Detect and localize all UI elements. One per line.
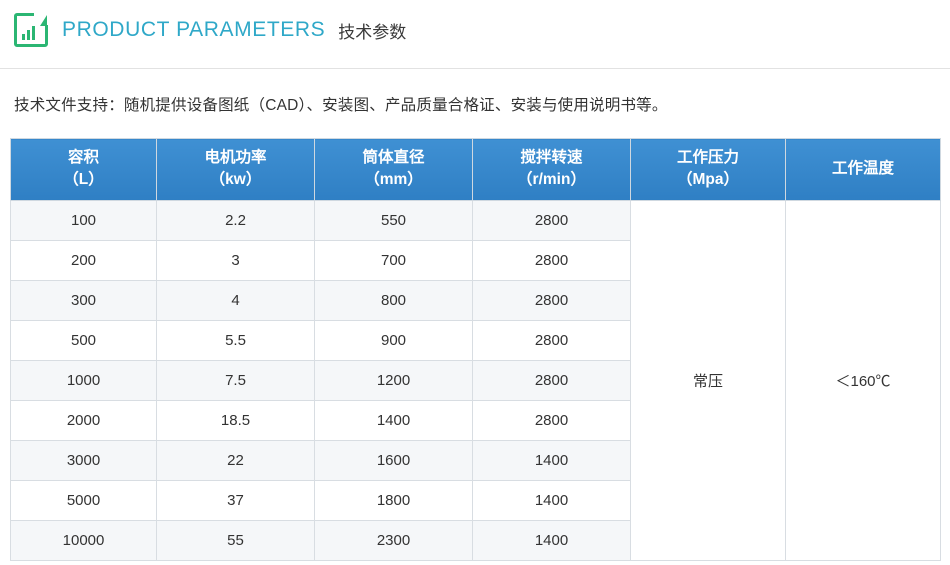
column-header-motor-power: 电机功率 （kw） bbox=[157, 139, 315, 201]
column-unit: （mm） bbox=[317, 169, 470, 191]
cell-speed: 2800 bbox=[473, 240, 631, 280]
cell-speed: 2800 bbox=[473, 280, 631, 320]
cell-power: 22 bbox=[157, 440, 315, 480]
cell-working-temperature: ＜160℃ bbox=[786, 200, 941, 560]
column-unit: （kw） bbox=[159, 169, 312, 191]
parameters-table-wrapper: 容积 （L） 电机功率 （kw） 筒体直径 （mm） 搅拌转速 （r/min） bbox=[10, 138, 940, 561]
cell-power: 7.5 bbox=[157, 360, 315, 400]
cell-power: 3 bbox=[157, 240, 315, 280]
cell-speed: 2800 bbox=[473, 400, 631, 440]
cell-power: 5.5 bbox=[157, 320, 315, 360]
column-unit: （Mpa） bbox=[633, 169, 783, 191]
column-unit: （r/min） bbox=[475, 169, 628, 191]
column-header-stirring-speed: 搅拌转速 （r/min） bbox=[473, 139, 631, 201]
cell-power: 55 bbox=[157, 520, 315, 560]
cell-volume: 100 bbox=[11, 200, 157, 240]
cell-diameter: 1600 bbox=[315, 440, 473, 480]
column-title: 工作压力 bbox=[677, 149, 739, 166]
parameters-table: 容积 （L） 电机功率 （kw） 筒体直径 （mm） 搅拌转速 （r/min） bbox=[10, 138, 941, 561]
cell-diameter: 1400 bbox=[315, 400, 473, 440]
cell-diameter: 1800 bbox=[315, 480, 473, 520]
column-header-working-temperature: 工作温度 bbox=[786, 139, 941, 201]
page-header: PRODUCT PARAMETERS 技术参数 bbox=[0, 0, 950, 46]
cell-diameter: 700 bbox=[315, 240, 473, 280]
page-title-en: PRODUCT PARAMETERS bbox=[62, 18, 325, 42]
column-header-working-pressure: 工作压力 （Mpa） bbox=[631, 139, 786, 201]
column-title: 筒体直径 bbox=[362, 149, 424, 166]
cell-diameter: 900 bbox=[315, 320, 473, 360]
cell-speed: 2800 bbox=[473, 320, 631, 360]
cell-volume: 200 bbox=[11, 240, 157, 280]
cell-volume: 3000 bbox=[11, 440, 157, 480]
cell-speed: 1400 bbox=[473, 480, 631, 520]
table-header-row: 容积 （L） 电机功率 （kw） 筒体直径 （mm） 搅拌转速 （r/min） bbox=[11, 139, 941, 201]
cell-diameter: 1200 bbox=[315, 360, 473, 400]
cell-volume: 1000 bbox=[11, 360, 157, 400]
technical-documents-note: 技术文件支持：随机提供设备图纸（CAD）、安装图、产品质量合格证、安装与使用说明… bbox=[14, 93, 668, 115]
cell-speed: 2800 bbox=[473, 200, 631, 240]
cell-volume: 10000 bbox=[11, 520, 157, 560]
product-parameters-page: PRODUCT PARAMETERS 技术参数 技术文件支持：随机提供设备图纸（… bbox=[0, 0, 950, 565]
cell-volume: 300 bbox=[11, 280, 157, 320]
cell-power: 37 bbox=[157, 480, 315, 520]
column-unit: （L） bbox=[13, 169, 154, 191]
cell-speed: 1400 bbox=[473, 440, 631, 480]
column-title: 电机功率 bbox=[204, 149, 266, 166]
column-header-volume: 容积 （L） bbox=[11, 139, 157, 201]
column-title: 工作温度 bbox=[832, 160, 894, 177]
chart-arrow-logo-icon bbox=[14, 13, 48, 47]
table-row: 100 2.2 550 2800 常压 ＜160℃ bbox=[11, 200, 941, 240]
cell-diameter: 2300 bbox=[315, 520, 473, 560]
column-title: 容积 bbox=[68, 149, 99, 166]
header-divider bbox=[0, 68, 950, 69]
cell-diameter: 800 bbox=[315, 280, 473, 320]
cell-volume: 500 bbox=[11, 320, 157, 360]
cell-power: 2.2 bbox=[157, 200, 315, 240]
column-title: 搅拌转速 bbox=[520, 149, 582, 166]
cell-working-pressure: 常压 bbox=[631, 200, 786, 560]
cell-speed: 1400 bbox=[473, 520, 631, 560]
cell-volume: 5000 bbox=[11, 480, 157, 520]
cell-diameter: 550 bbox=[315, 200, 473, 240]
page-title-cn: 技术参数 bbox=[338, 18, 406, 43]
cell-speed: 2800 bbox=[473, 360, 631, 400]
cell-power: 18.5 bbox=[157, 400, 315, 440]
cell-volume: 2000 bbox=[11, 400, 157, 440]
column-header-barrel-diameter: 筒体直径 （mm） bbox=[315, 139, 473, 201]
cell-power: 4 bbox=[157, 280, 315, 320]
